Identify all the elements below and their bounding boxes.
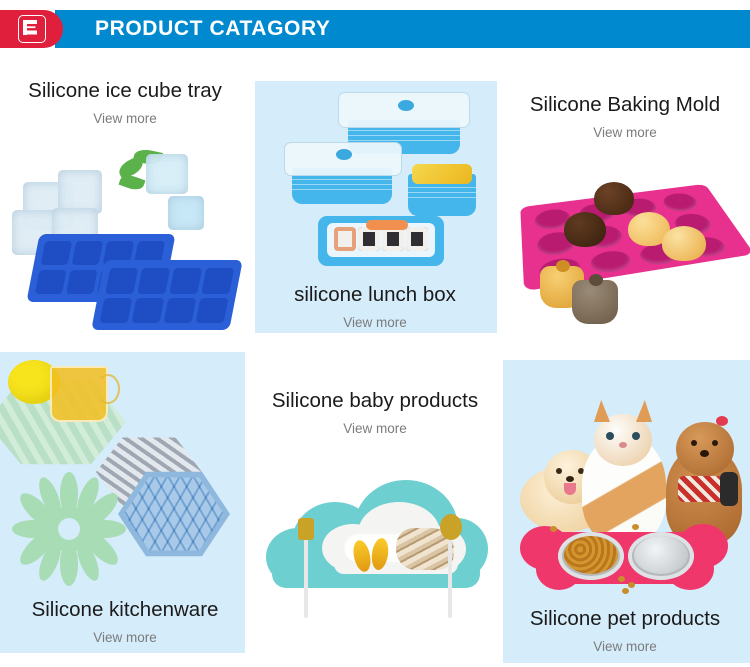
- card-title: Silicone baby products: [250, 388, 500, 414]
- category-card-baby-products[interactable]: Silicone baby products View more: [250, 352, 500, 667]
- view-more-link[interactable]: View more: [250, 421, 500, 436]
- category-card-baking-mold[interactable]: Silicone Baking Mold View more: [500, 56, 750, 350]
- product-category-grid: Silicone ice cube tray View more: [0, 56, 750, 667]
- view-more-link[interactable]: View more: [0, 630, 250, 645]
- product-image-lunch-box: [270, 86, 485, 276]
- card-caption-lunch-box: silicone lunch box View more: [250, 282, 500, 330]
- logo-glyph: [18, 15, 46, 43]
- card-caption-pet-products: Silicone pet products View more: [500, 606, 750, 654]
- product-image-baby-products: [258, 480, 494, 640]
- product-image-ice-cube-tray: [0, 148, 250, 348]
- page-header: PRODUCT CATAGORY: [0, 10, 750, 48]
- view-more-link[interactable]: View more: [500, 125, 750, 140]
- product-image-pet-products: [506, 372, 746, 602]
- product-image-baking-mold: [510, 154, 745, 339]
- category-card-kitchenware[interactable]: Silicone kitchenware View more: [0, 352, 250, 667]
- category-card-pet-products[interactable]: Silicone pet products View more: [500, 352, 750, 667]
- card-caption-kitchenware: Silicone kitchenware View more: [0, 597, 250, 645]
- view-more-link[interactable]: View more: [500, 639, 750, 654]
- card-title: Silicone pet products: [500, 606, 750, 632]
- card-title: silicone lunch box: [250, 282, 500, 308]
- view-more-link[interactable]: View more: [250, 315, 500, 330]
- card-caption-ice-cube-tray: Silicone ice cube tray View more: [0, 78, 250, 126]
- category-card-lunch-box[interactable]: silicone lunch box View more: [250, 56, 500, 350]
- page-title: PRODUCT CATAGORY: [95, 10, 331, 48]
- view-more-link[interactable]: View more: [0, 111, 250, 126]
- card-title: Silicone Baking Mold: [500, 92, 750, 118]
- company-logo-e-icon: [0, 10, 63, 48]
- card-title: Silicone ice cube tray: [0, 78, 250, 104]
- category-card-ice-cube-tray[interactable]: Silicone ice cube tray View more: [0, 56, 250, 350]
- card-title: Silicone kitchenware: [0, 597, 250, 623]
- card-caption-baby-products: Silicone baby products View more: [250, 388, 500, 436]
- product-image-kitchenware: [0, 352, 245, 592]
- card-caption-baking-mold: Silicone Baking Mold View more: [500, 92, 750, 140]
